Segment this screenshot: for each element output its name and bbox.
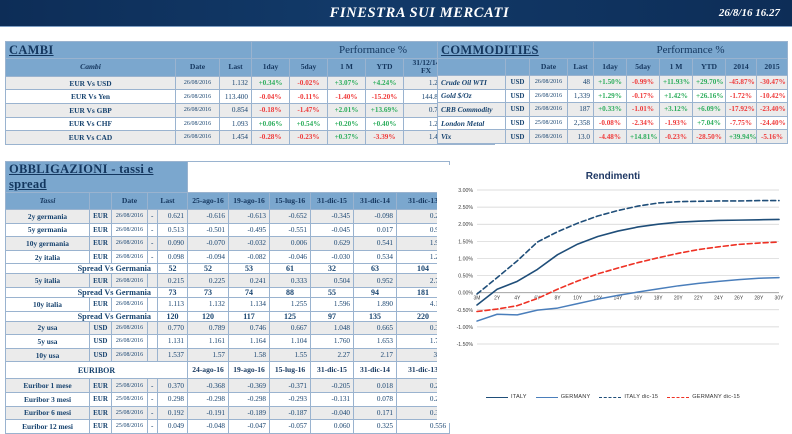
bond-row-currency: EUR <box>90 250 112 264</box>
cambi-row-m1: +2.01% <box>328 104 366 118</box>
commodities-header-row: DateLast1day5day1 MYTD20142015 <box>438 59 788 76</box>
obbligazioni-section-title: OBBLIGAZIONI - tassi e spread <box>6 162 188 193</box>
spread-label: Spread Vs Germania <box>6 287 158 297</box>
cambi-row-d1: -0.04% <box>252 90 290 104</box>
bond-row-sign <box>148 348 158 362</box>
cambi-header-5: 1 M <box>328 59 366 77</box>
spread-c1: 52 <box>188 264 229 274</box>
table-row: Euribor 1 meseEUR25/08/2016-0.370-0.368-… <box>6 379 450 393</box>
chart-title: Rendimenti <box>437 171 789 182</box>
x-tick-label-1: 2Y <box>494 296 501 302</box>
commodities-header-1 <box>506 59 530 76</box>
cambi-header-4: 5day <box>290 59 328 77</box>
euribor-row-c4: -0.131 <box>311 392 354 406</box>
bond-row-last: 1.537 <box>158 348 188 362</box>
cambi-row-d5: -0.11% <box>290 90 328 104</box>
commodity-row-d1: +0.33% <box>594 103 627 117</box>
bond-row-label: 2y italia <box>6 250 90 264</box>
cambi-header-6: YTD <box>366 59 404 77</box>
euribor-row-c2: -0.369 <box>229 379 270 393</box>
euribor-row-c3: -0.187 <box>270 406 311 420</box>
y-tick-label-7: -0.50% <box>457 308 474 314</box>
bond-row-sign: - <box>148 250 158 264</box>
commodity-row-d1: +1.29% <box>594 89 627 103</box>
chart-plot-area: 3.00%2.50%2.00%1.50%1.00%0.50%0.00%-0.50… <box>437 182 789 392</box>
commodities-header-4: 1day <box>594 59 627 76</box>
euribor-header-4: 31-dic-14 <box>354 362 397 379</box>
bond-row-c3: -0.046 <box>270 250 311 264</box>
bond-row-c5: 0.541 <box>354 237 397 251</box>
commodity-row-currency: USD <box>506 116 530 130</box>
euribor-row-date: 25/08/2016 <box>112 406 148 420</box>
y-tick-label-9: -1.50% <box>457 342 474 348</box>
euribor-row-c5: 0.018 <box>354 379 397 393</box>
commodity-row-currency: USD <box>506 103 530 117</box>
euribor-row-c1: -0.191 <box>188 406 229 420</box>
bond-row-label: 5y italia <box>6 274 90 288</box>
commodity-row-m1: +11.93% <box>660 76 693 90</box>
euribor-row-c2: -0.298 <box>229 392 270 406</box>
commodity-row-d1: +1.50% <box>594 76 627 90</box>
commodities-section-title: COMMODITIES <box>438 42 594 59</box>
obbligazioni-panel: OBBLIGAZIONI - tassi e spreadTassiDateLa… <box>5 161 429 434</box>
table-row: Euribor 6 mesiEUR25/08/2016-0.192-0.191-… <box>6 406 450 420</box>
table-row: Gold $/OzUSD26/08/20161,339+1.29%-0.17%+… <box>438 89 788 103</box>
commodity-row-date: 26/08/2016 <box>530 76 568 90</box>
bond-row-c1: 1.132 <box>188 297 229 311</box>
legend-item-germany[interactable]: GERMANY <box>536 394 591 400</box>
table-row: 5y usaUSD26/08/20161.1311.1611.1641.1041… <box>6 335 450 349</box>
obbligazioni-header-0: Tassi <box>6 193 90 210</box>
y-tick-label-2: 2.00% <box>458 222 473 228</box>
commodity-row-y2015: -5.16% <box>757 130 788 144</box>
x-tick-label-13: 26Y <box>734 296 744 302</box>
commodity-row-y2014: -7.75% <box>726 116 757 130</box>
obbligazioni-table: OBBLIGAZIONI - tassi e spreadTassiDateLa… <box>5 161 450 434</box>
commodity-row-y2015: -24.40% <box>757 116 788 130</box>
legend-label: GERMANY dic-15 <box>692 394 740 400</box>
spread-c2: 53 <box>229 264 270 274</box>
cambi-header-3: 1day <box>252 59 290 77</box>
bond-row-last: 0.770 <box>158 321 188 335</box>
bond-row-date: 26/08/2016 <box>112 348 148 362</box>
bond-row-c4: 1.760 <box>311 335 354 349</box>
euribor-row-c5: 0.171 <box>354 406 397 420</box>
cambi-row-ytd: -15.20% <box>366 90 404 104</box>
cambi-row-ytd: -3.39% <box>366 131 404 145</box>
commodity-row-d5: -2.34% <box>627 116 660 130</box>
spread-c2: 117 <box>229 311 270 321</box>
cambi-row-d5: -0.02% <box>290 76 328 90</box>
cambi-row-ytd: +13.69% <box>366 104 404 118</box>
x-tick-label-15: 30Y <box>775 296 785 302</box>
bond-row-c3: 0.333 <box>270 274 311 288</box>
spread-c4: 97 <box>311 311 354 321</box>
commodity-row-d5: -1.01% <box>627 103 660 117</box>
spread-c1: 73 <box>188 287 229 297</box>
bond-row-c4: -0.345 <box>311 210 354 224</box>
spread-c5: 135 <box>354 311 397 321</box>
bond-row-currency: USD <box>90 335 112 349</box>
bond-row-c2: -0.032 <box>229 237 270 251</box>
euribor-row-c1: -0.048 <box>188 420 229 434</box>
bond-row-currency: EUR <box>90 237 112 251</box>
commodity-row-last: 1,339 <box>568 89 594 103</box>
spread-c5: 94 <box>354 287 397 297</box>
bond-row-c3: 0.667 <box>270 321 311 335</box>
bond-row-last: 0.513 <box>158 223 188 237</box>
cambi-row-date: 26/08/2016 <box>176 90 220 104</box>
bond-row-c4: 0.504 <box>311 274 354 288</box>
bond-row-label: 10y germania <box>6 237 90 251</box>
cambi-row-label: EUR Vs USD <box>6 76 176 90</box>
y-tick-label-3: 1.50% <box>458 239 473 245</box>
commodity-row-label: CRB Commodity <box>438 103 506 117</box>
chart-legend: ITALYGERMANYITALY dic-15GERMANY dic-15 <box>437 394 789 400</box>
bond-row-c1: -0.616 <box>188 210 229 224</box>
bond-row-c5: 0.665 <box>354 321 397 335</box>
legend-label: ITALY <box>511 394 527 400</box>
bond-row-date: 26/08/2016 <box>112 210 148 224</box>
commodity-row-ytd: +26.16% <box>693 89 726 103</box>
x-tick-label-9: 18Y <box>654 296 664 302</box>
cambi-row-label: EUR Vs CAD <box>6 131 176 145</box>
spread-c4: 55 <box>311 287 354 297</box>
dashboard-page: FINESTRA SUI MERCATI 26/8/16 16.27 CAMBI… <box>0 0 792 429</box>
bond-row-label: 10y italia <box>6 297 90 311</box>
table-row: EUR Vs Yen26/08/2016113.400-0.04%-0.11%-… <box>6 90 495 104</box>
obbligazioni-header-2: Date <box>112 193 148 210</box>
commodity-row-d5: -0.99% <box>627 76 660 90</box>
commodities-header-2: Date <box>530 59 568 76</box>
cambi-row-d5: +0.54% <box>290 117 328 131</box>
bond-row-last: 1.113 <box>158 297 188 311</box>
euribor-header-3: 31-dic-15 <box>311 362 354 379</box>
bond-row-c4: 1.596 <box>311 297 354 311</box>
x-tick-label-8: 16Y <box>634 296 644 302</box>
commodities-header-9: 2015 <box>757 59 788 76</box>
cambi-row-d1: -0.28% <box>252 131 290 145</box>
table-row: EUR Vs CAD26/08/20161.454-0.28%-0.23%+0.… <box>6 131 495 145</box>
commodities-header-7: YTD <box>693 59 726 76</box>
y-tick-label-6: 0.00% <box>458 291 473 297</box>
spread-row: Spread Vs Germania12012011712597135220 <box>6 311 450 321</box>
bond-row-c3: 1.104 <box>270 335 311 349</box>
bond-row-last: 0.090 <box>158 237 188 251</box>
euribor-row-c3: -0.293 <box>270 392 311 406</box>
bond-row-sign <box>148 274 158 288</box>
euribor-row-label: Euribor 6 mesi <box>6 406 90 420</box>
commodities-header-8: 2014 <box>726 59 757 76</box>
spread-last: 120 <box>158 311 188 321</box>
spread-row: Spread Vs Germania737374885594181 <box>6 287 450 297</box>
spread-c5: 63 <box>354 264 397 274</box>
bond-row-sign <box>148 297 158 311</box>
commodity-row-y2015: -10.42% <box>757 89 788 103</box>
euribor-row-c4: -0.205 <box>311 379 354 393</box>
commodity-row-last: 13.0 <box>568 130 594 144</box>
euribor-row-c3: -0.057 <box>270 420 311 434</box>
commodities-table: COMMODITIESPerformance %DateLast1day5day… <box>437 41 788 144</box>
bond-row-currency: EUR <box>90 223 112 237</box>
commodity-row-m1: -1.93% <box>660 116 693 130</box>
commodity-row-last: 187 <box>568 103 594 117</box>
table-row: 2y germaniaEUR26/08/2016-0.621-0.616-0.6… <box>6 210 450 224</box>
commodity-row-currency: USD <box>506 89 530 103</box>
euribor-row-sign: - <box>148 379 158 393</box>
euribor-row-last: 0.049 <box>158 420 188 434</box>
euribor-row-c4: 0.060 <box>311 420 354 434</box>
bond-row-last: 0.621 <box>158 210 188 224</box>
app-banner: FINESTRA SUI MERCATI 26/8/16 16.27 <box>0 0 792 27</box>
euribor-row-currency: EUR <box>90 420 112 434</box>
x-tick-label-10: 20Y <box>674 296 684 302</box>
bond-row-sign: - <box>148 210 158 224</box>
commodities-panel: COMMODITIESPerformance %DateLast1day5day… <box>437 41 787 144</box>
bond-row-c5: -0.098 <box>354 210 397 224</box>
bond-row-currency: USD <box>90 321 112 335</box>
banner-timestamp: 26/8/16 16.27 <box>719 7 792 19</box>
commodities-header-6: 1 M <box>660 59 693 76</box>
euribor-row-c3: -0.371 <box>270 379 311 393</box>
obbligazioni-header-3: Last <box>148 193 188 210</box>
commodity-row-last: 2,358 <box>568 116 594 130</box>
euribor-row-currency: EUR <box>90 406 112 420</box>
table-row: EUR Vs CHF26/08/20161.093+0.06%+0.54%+0.… <box>6 117 495 131</box>
legend-label: GERMANY <box>561 394 591 400</box>
euribor-row-label: Euribor 12 mesi <box>6 420 90 434</box>
bond-row-c3: 1.255 <box>270 297 311 311</box>
obbligazioni-title-filler <box>188 162 450 193</box>
cambi-row-m1: +0.20% <box>328 117 366 131</box>
euribor-row-label: Euribor 3 mesi <box>6 392 90 406</box>
commodities-title-row: COMMODITIESPerformance % <box>438 42 788 59</box>
cambi-row-label: EUR Vs CHF <box>6 117 176 131</box>
commodity-row-d5: +14.81% <box>627 130 660 144</box>
bond-row-c5: 2.17 <box>354 348 397 362</box>
table-row: 10y italiaEUR26/08/20161.1131.1321.1341.… <box>6 297 450 311</box>
legend-item-germany-dic-15[interactable]: GERMANY dic-15 <box>667 394 740 400</box>
euribor-row-label: Euribor 1 mese <box>6 379 90 393</box>
page-title: FINESTRA SUI MERCATI <box>0 5 719 22</box>
spread-last: 73 <box>158 287 188 297</box>
cambi-row-ytd: +0.40% <box>366 117 404 131</box>
x-tick-label-14: 28Y <box>754 296 764 302</box>
commodity-row-d5: -0.17% <box>627 89 660 103</box>
euribor-row-c5: 0.325 <box>354 420 397 434</box>
commodity-row-label: Vix <box>438 130 506 144</box>
commodities-performance-title: Performance % <box>594 42 788 59</box>
obbligazioni-header-5: 19-ago-16 <box>229 193 270 210</box>
cambi-header-0: Cambi <box>6 59 176 77</box>
cambi-header-1: Date <box>176 59 220 77</box>
legend-swatch <box>486 397 508 398</box>
x-tick-label-5: 10Y <box>573 296 583 302</box>
bond-row-label: 2y usa <box>6 321 90 335</box>
commodities-header-0 <box>438 59 506 76</box>
table-row: Crude Oil WTIUSD26/08/201648+1.50%-0.99%… <box>438 76 788 90</box>
cambi-row-d5: -0.23% <box>290 131 328 145</box>
obbligazioni-header-4: 25-ago-16 <box>188 193 229 210</box>
spread-c3: 125 <box>270 311 311 321</box>
cambi-row-m1: +0.37% <box>328 131 366 145</box>
bond-row-currency: EUR <box>90 274 112 288</box>
bond-row-date: 26/08/2016 <box>112 237 148 251</box>
bond-row-c2: 0.746 <box>229 321 270 335</box>
table-row: 10y usaUSD26/08/20161.5371.571.581.552.2… <box>6 348 450 362</box>
commodity-row-m1: +1.42% <box>660 89 693 103</box>
table-row: London MetalUSD25/08/20162,358-0.08%-2.3… <box>438 116 788 130</box>
commodity-row-date: 26/08/2016 <box>530 89 568 103</box>
bond-row-date: 26/08/2016 <box>112 321 148 335</box>
bond-row-c1: -0.094 <box>188 250 229 264</box>
bond-row-c3: -0.551 <box>270 223 311 237</box>
commodities-header-3: Last <box>568 59 594 76</box>
cambi-row-m1: -1.40% <box>328 90 366 104</box>
table-row: EUR Vs USD26/08/20161.132+0.34%-0.02%+3.… <box>6 76 495 90</box>
bond-row-c1: -0.501 <box>188 223 229 237</box>
euribor-row-sign: - <box>148 392 158 406</box>
table-row: CRB CommodityUSD26/08/2016187+0.33%-1.01… <box>438 103 788 117</box>
table-row: 5y italiaEUR26/08/20160.2150.2250.2410.3… <box>6 274 450 288</box>
euribor-header-1: 19-ago-16 <box>229 362 270 379</box>
bond-row-sign <box>148 335 158 349</box>
cambi-table: CAMBIPerformance %CambiDateLast1day5day1… <box>5 41 495 145</box>
table-row: EUR Vs GBP26/08/20160.854-0.18%-1.47%+2.… <box>6 104 495 118</box>
euribor-row-c1: -0.368 <box>188 379 229 393</box>
legend-swatch <box>667 397 689 398</box>
obbligazioni-header-row: TassiDateLast25-ago-1619-ago-1615-lug-16… <box>6 193 450 210</box>
euribor-row-last: 0.370 <box>158 379 188 393</box>
bond-row-date: 26/08/2016 <box>112 223 148 237</box>
bond-row-currency: EUR <box>90 297 112 311</box>
legend-item-italy-dic-15[interactable]: ITALY dic-15 <box>599 394 658 400</box>
table-row: Euribor 3 mesiEUR25/08/2016-0.298-0.298-… <box>6 392 450 406</box>
bond-row-c1: 1.161 <box>188 335 229 349</box>
cambi-header-2: Last <box>220 59 252 77</box>
bond-row-last: 1.131 <box>158 335 188 349</box>
x-tick-label-2: 4Y <box>514 296 521 302</box>
obbligazioni-header-1 <box>90 193 112 210</box>
cambi-row-m1: +3.07% <box>328 76 366 90</box>
cambi-row-d1: +0.34% <box>252 76 290 90</box>
spread-label: Spread Vs Germania <box>6 311 158 321</box>
obbligazioni-header-8: 31-dic-14 <box>354 193 397 210</box>
euribor-row-currency: EUR <box>90 379 112 393</box>
y-tick-label-4: 1.00% <box>458 256 473 262</box>
commodity-row-y2015: -23.40% <box>757 103 788 117</box>
bond-row-label: 5y germania <box>6 223 90 237</box>
bond-row-date: 26/08/2016 <box>112 335 148 349</box>
bond-row-c4: 2.27 <box>311 348 354 362</box>
bond-row-c5: 1.890 <box>354 297 397 311</box>
bond-row-c2: 1.164 <box>229 335 270 349</box>
commodity-row-d1: -4.48% <box>594 130 627 144</box>
y-tick-label-5: 0.50% <box>458 274 473 280</box>
euribor-row-sign: - <box>148 420 158 434</box>
legend-label: ITALY dic-15 <box>624 394 658 400</box>
bond-row-date: 26/08/2016 <box>112 297 148 311</box>
obbligazioni-header-7: 31-dic-15 <box>311 193 354 210</box>
spread-row: Spread Vs Germania525253613263104 <box>6 264 450 274</box>
euribor-row-sign: - <box>148 406 158 420</box>
cambi-row-d1: +0.06% <box>252 117 290 131</box>
euribor-row-c2: -0.047 <box>229 420 270 434</box>
bond-row-c5: 0.952 <box>354 274 397 288</box>
bond-row-currency: EUR <box>90 210 112 224</box>
spread-c4: 32 <box>311 264 354 274</box>
cambi-row-last: 1.132 <box>220 76 252 90</box>
spread-c3: 61 <box>270 264 311 274</box>
y-tick-label-8: -1.00% <box>457 325 474 331</box>
cambi-row-date: 26/08/2016 <box>176 131 220 145</box>
spread-last: 52 <box>158 264 188 274</box>
bond-row-c5: 1.653 <box>354 335 397 349</box>
spread-c3: 88 <box>270 287 311 297</box>
cambi-row-last: 113.400 <box>220 90 252 104</box>
cambi-row-last: 0.854 <box>220 104 252 118</box>
bond-row-date: 26/08/2016 <box>112 250 148 264</box>
bond-row-c4: -0.045 <box>311 223 354 237</box>
cambi-row-label: EUR Vs Yen <box>6 90 176 104</box>
table-row: 2y usaUSD26/08/20160.7700.7890.7460.6671… <box>6 321 450 335</box>
legend-item-italy[interactable]: ITALY <box>486 394 527 400</box>
obbligazioni-header-6: 15-lug-16 <box>270 193 311 210</box>
commodity-row-currency: USD <box>506 130 530 144</box>
bond-row-label: 2y germania <box>6 210 90 224</box>
euribor-row-c2: -0.189 <box>229 406 270 420</box>
spread-label: Spread Vs Germania <box>6 264 158 274</box>
bond-row-last: 0.215 <box>158 274 188 288</box>
x-tick-label-12: 24Y <box>714 296 724 302</box>
euribor-header-2: 15-lug-16 <box>270 362 311 379</box>
commodity-row-label: Crude Oil WTI <box>438 76 506 90</box>
cambi-row-d1: -0.18% <box>252 104 290 118</box>
bond-row-c2: 0.241 <box>229 274 270 288</box>
euribor-row-currency: EUR <box>90 392 112 406</box>
commodity-row-y2014: +39.94% <box>726 130 757 144</box>
commodity-row-y2014: -17.92% <box>726 103 757 117</box>
bond-row-c2: 1.58 <box>229 348 270 362</box>
cambi-row-last: 1.454 <box>220 131 252 145</box>
table-row: VixUSD26/08/201613.0-4.48%+14.81%-0.23%-… <box>438 130 788 144</box>
euribor-row-last: 0.298 <box>158 392 188 406</box>
bond-row-c1: 0.225 <box>188 274 229 288</box>
euribor-header-row: EURIBOR24-ago-1619-ago-1615-lug-1631-dic… <box>6 362 450 379</box>
commodity-row-date: 25/08/2016 <box>530 116 568 130</box>
bond-row-label: 5y usa <box>6 335 90 349</box>
euribor-section-title: EURIBOR <box>6 362 188 379</box>
bond-row-c4: -0.030 <box>311 250 354 264</box>
bond-row-currency: USD <box>90 348 112 362</box>
bond-row-c3: -0.652 <box>270 210 311 224</box>
legend-swatch <box>599 397 621 398</box>
bond-row-date: 26/08/2016 <box>112 274 148 288</box>
bond-row-sign <box>148 321 158 335</box>
cambi-row-label: EUR Vs GBP <box>6 104 176 118</box>
cambi-section-title: CAMBI <box>6 42 252 59</box>
commodity-row-y2014: -45.87% <box>726 76 757 90</box>
commodity-row-m1: -0.23% <box>660 130 693 144</box>
table-row: 5y germaniaEUR26/08/2016-0.513-0.501-0.4… <box>6 223 450 237</box>
cambi-row-d5: -1.47% <box>290 104 328 118</box>
commodity-row-currency: USD <box>506 76 530 90</box>
table-row: 10y germaniaEUR26/08/2016-0.090-0.070-0.… <box>6 237 450 251</box>
bond-row-c1: 1.57 <box>188 348 229 362</box>
bond-row-c2: -0.613 <box>229 210 270 224</box>
euribor-row-c5: 0.078 <box>354 392 397 406</box>
bond-row-c2: -0.082 <box>229 250 270 264</box>
